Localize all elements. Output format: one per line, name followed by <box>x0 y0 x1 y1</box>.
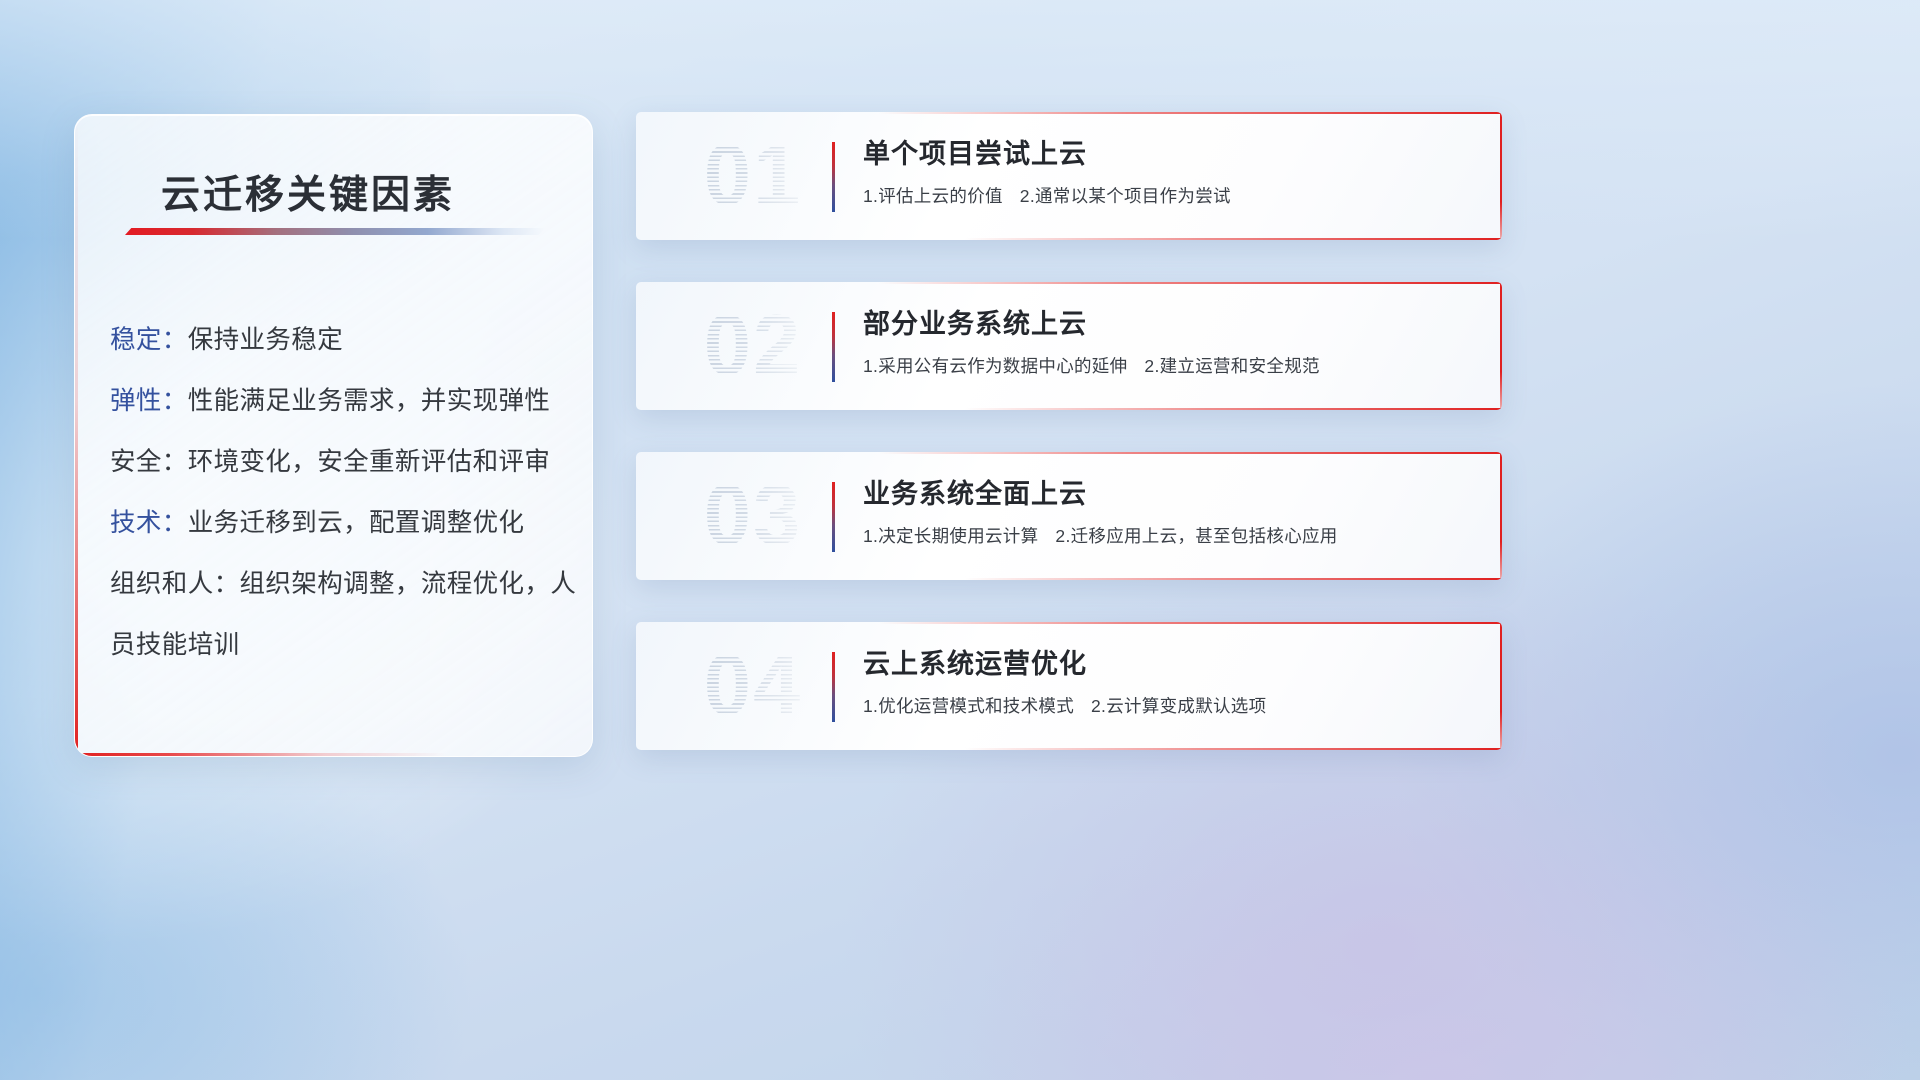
stage-text-block: 云上系统运营优化 1.优化运营模式和技术模式2.云计算变成默认选项 <box>863 644 1472 718</box>
card-accent-bottom <box>965 578 1502 580</box>
stage-card-01[interactable]: 01 单个项目尝试上云 1.评估上云的价值2.通常以某个项目作为尝试 <box>636 112 1502 240</box>
list-item-value: 环境变化，安全重新评估和评审 <box>188 448 551 476</box>
list-item: 稳定：保持业务稳定 <box>110 310 580 371</box>
card-accent-right <box>1500 452 1502 580</box>
card-accent-bottom <box>965 238 1502 240</box>
stage-description: 1.决定长期使用云计算2.迁移应用上云，甚至包括核心应用 <box>863 523 1472 548</box>
card-accent-top <box>878 282 1502 284</box>
stage-number-watermark: 04 <box>658 636 848 736</box>
stage-divider-accent <box>832 312 835 382</box>
card-accent-top <box>878 452 1502 454</box>
stage-card-02[interactable]: 02 部分业务系统上云 1.采用公有云作为数据中心的延伸2.建立运营和安全规范 <box>636 282 1502 410</box>
card-accent-bottom <box>965 408 1502 410</box>
stage-description-part-2: 2.通常以某个项目作为尝试 <box>1020 186 1231 206</box>
key-factors-card: 云迁移关键因素 稳定：保持业务稳定 弹性：性能满足业务需求，并实现弹性 安全：环… <box>74 114 593 757</box>
title-underline-accent <box>125 228 545 235</box>
list-item-key: 弹性： <box>110 387 188 415</box>
stage-title: 部分业务系统上云 <box>863 304 1472 344</box>
stage-description-part-2: 2.云计算变成默认选项 <box>1091 696 1266 716</box>
stage-description-part-1: 1.优化运营模式和技术模式 <box>863 696 1074 716</box>
list-item-value: 性能满足业务需求，并实现弹性 <box>188 387 551 415</box>
stage-card-03[interactable]: 03 业务系统全面上云 1.决定长期使用云计算2.迁移应用上云，甚至包括核心应用 <box>636 452 1502 580</box>
stage-description: 1.采用公有云作为数据中心的延伸2.建立运营和安全规范 <box>863 353 1472 378</box>
stage-title: 业务系统全面上云 <box>863 474 1472 514</box>
stage-description-part-1: 1.采用公有云作为数据中心的延伸 <box>863 356 1127 376</box>
key-factors-list: 稳定：保持业务稳定 弹性：性能满足业务需求，并实现弹性 安全：环境变化，安全重新… <box>110 310 580 676</box>
list-item-value: 业务迁移到云，配置调整优化 <box>188 509 525 537</box>
stage-number-watermark: 01 <box>658 126 848 226</box>
stage-description-part-2: 2.建立运营和安全规范 <box>1144 356 1319 376</box>
card-accent-top <box>878 112 1502 114</box>
card-accent-bottom <box>965 748 1502 750</box>
card-accent-right <box>1500 282 1502 410</box>
stage-divider-accent <box>832 482 835 552</box>
stage-description-part-1: 1.评估上云的价值 <box>863 186 1003 206</box>
list-item-key: 安全： <box>110 448 188 476</box>
list-item-key: 组织和人： <box>110 570 240 598</box>
list-item: 安全：环境变化，安全重新评估和评审 <box>110 432 580 493</box>
list-item-value: 保持业务稳定 <box>188 326 343 354</box>
stage-text-block: 单个项目尝试上云 1.评估上云的价值2.通常以某个项目作为尝试 <box>863 134 1472 208</box>
list-item-key: 稳定： <box>110 326 188 354</box>
migration-stages-list: 01 单个项目尝试上云 1.评估上云的价值2.通常以某个项目作为尝试 02 部分… <box>636 112 1502 792</box>
list-item: 组织和人：组织架构调整，流程优化，人员技能培训 <box>110 554 580 676</box>
stage-number-watermark: 03 <box>658 466 848 566</box>
stage-description: 1.评估上云的价值2.通常以某个项目作为尝试 <box>863 183 1472 208</box>
card-accent-top <box>878 622 1502 624</box>
page-title: 云迁移关键因素 <box>161 164 455 220</box>
list-item: 弹性：性能满足业务需求，并实现弹性 <box>110 371 580 432</box>
list-item: 技术：业务迁移到云，配置调整优化 <box>110 493 580 554</box>
stage-text-block: 部分业务系统上云 1.采用公有云作为数据中心的延伸2.建立运营和安全规范 <box>863 304 1472 378</box>
stage-card-04[interactable]: 04 云上系统运营优化 1.优化运营模式和技术模式2.云计算变成默认选项 <box>636 622 1502 750</box>
stage-description-part-2: 2.迁移应用上云，甚至包括核心应用 <box>1055 526 1337 546</box>
stage-description-part-1: 1.决定长期使用云计算 <box>863 526 1038 546</box>
stage-description: 1.优化运营模式和技术模式2.云计算变成默认选项 <box>863 693 1472 718</box>
card-accent-right <box>1500 622 1502 750</box>
stage-number-watermark: 02 <box>658 296 848 396</box>
list-item-key: 技术： <box>110 509 188 537</box>
stage-divider-accent <box>832 142 835 212</box>
card-accent-right <box>1500 112 1502 240</box>
stage-title: 单个项目尝试上云 <box>863 134 1472 174</box>
stage-text-block: 业务系统全面上云 1.决定长期使用云计算2.迁移应用上云，甚至包括核心应用 <box>863 474 1472 548</box>
stage-title: 云上系统运营优化 <box>863 644 1472 684</box>
stage-divider-accent <box>832 652 835 722</box>
